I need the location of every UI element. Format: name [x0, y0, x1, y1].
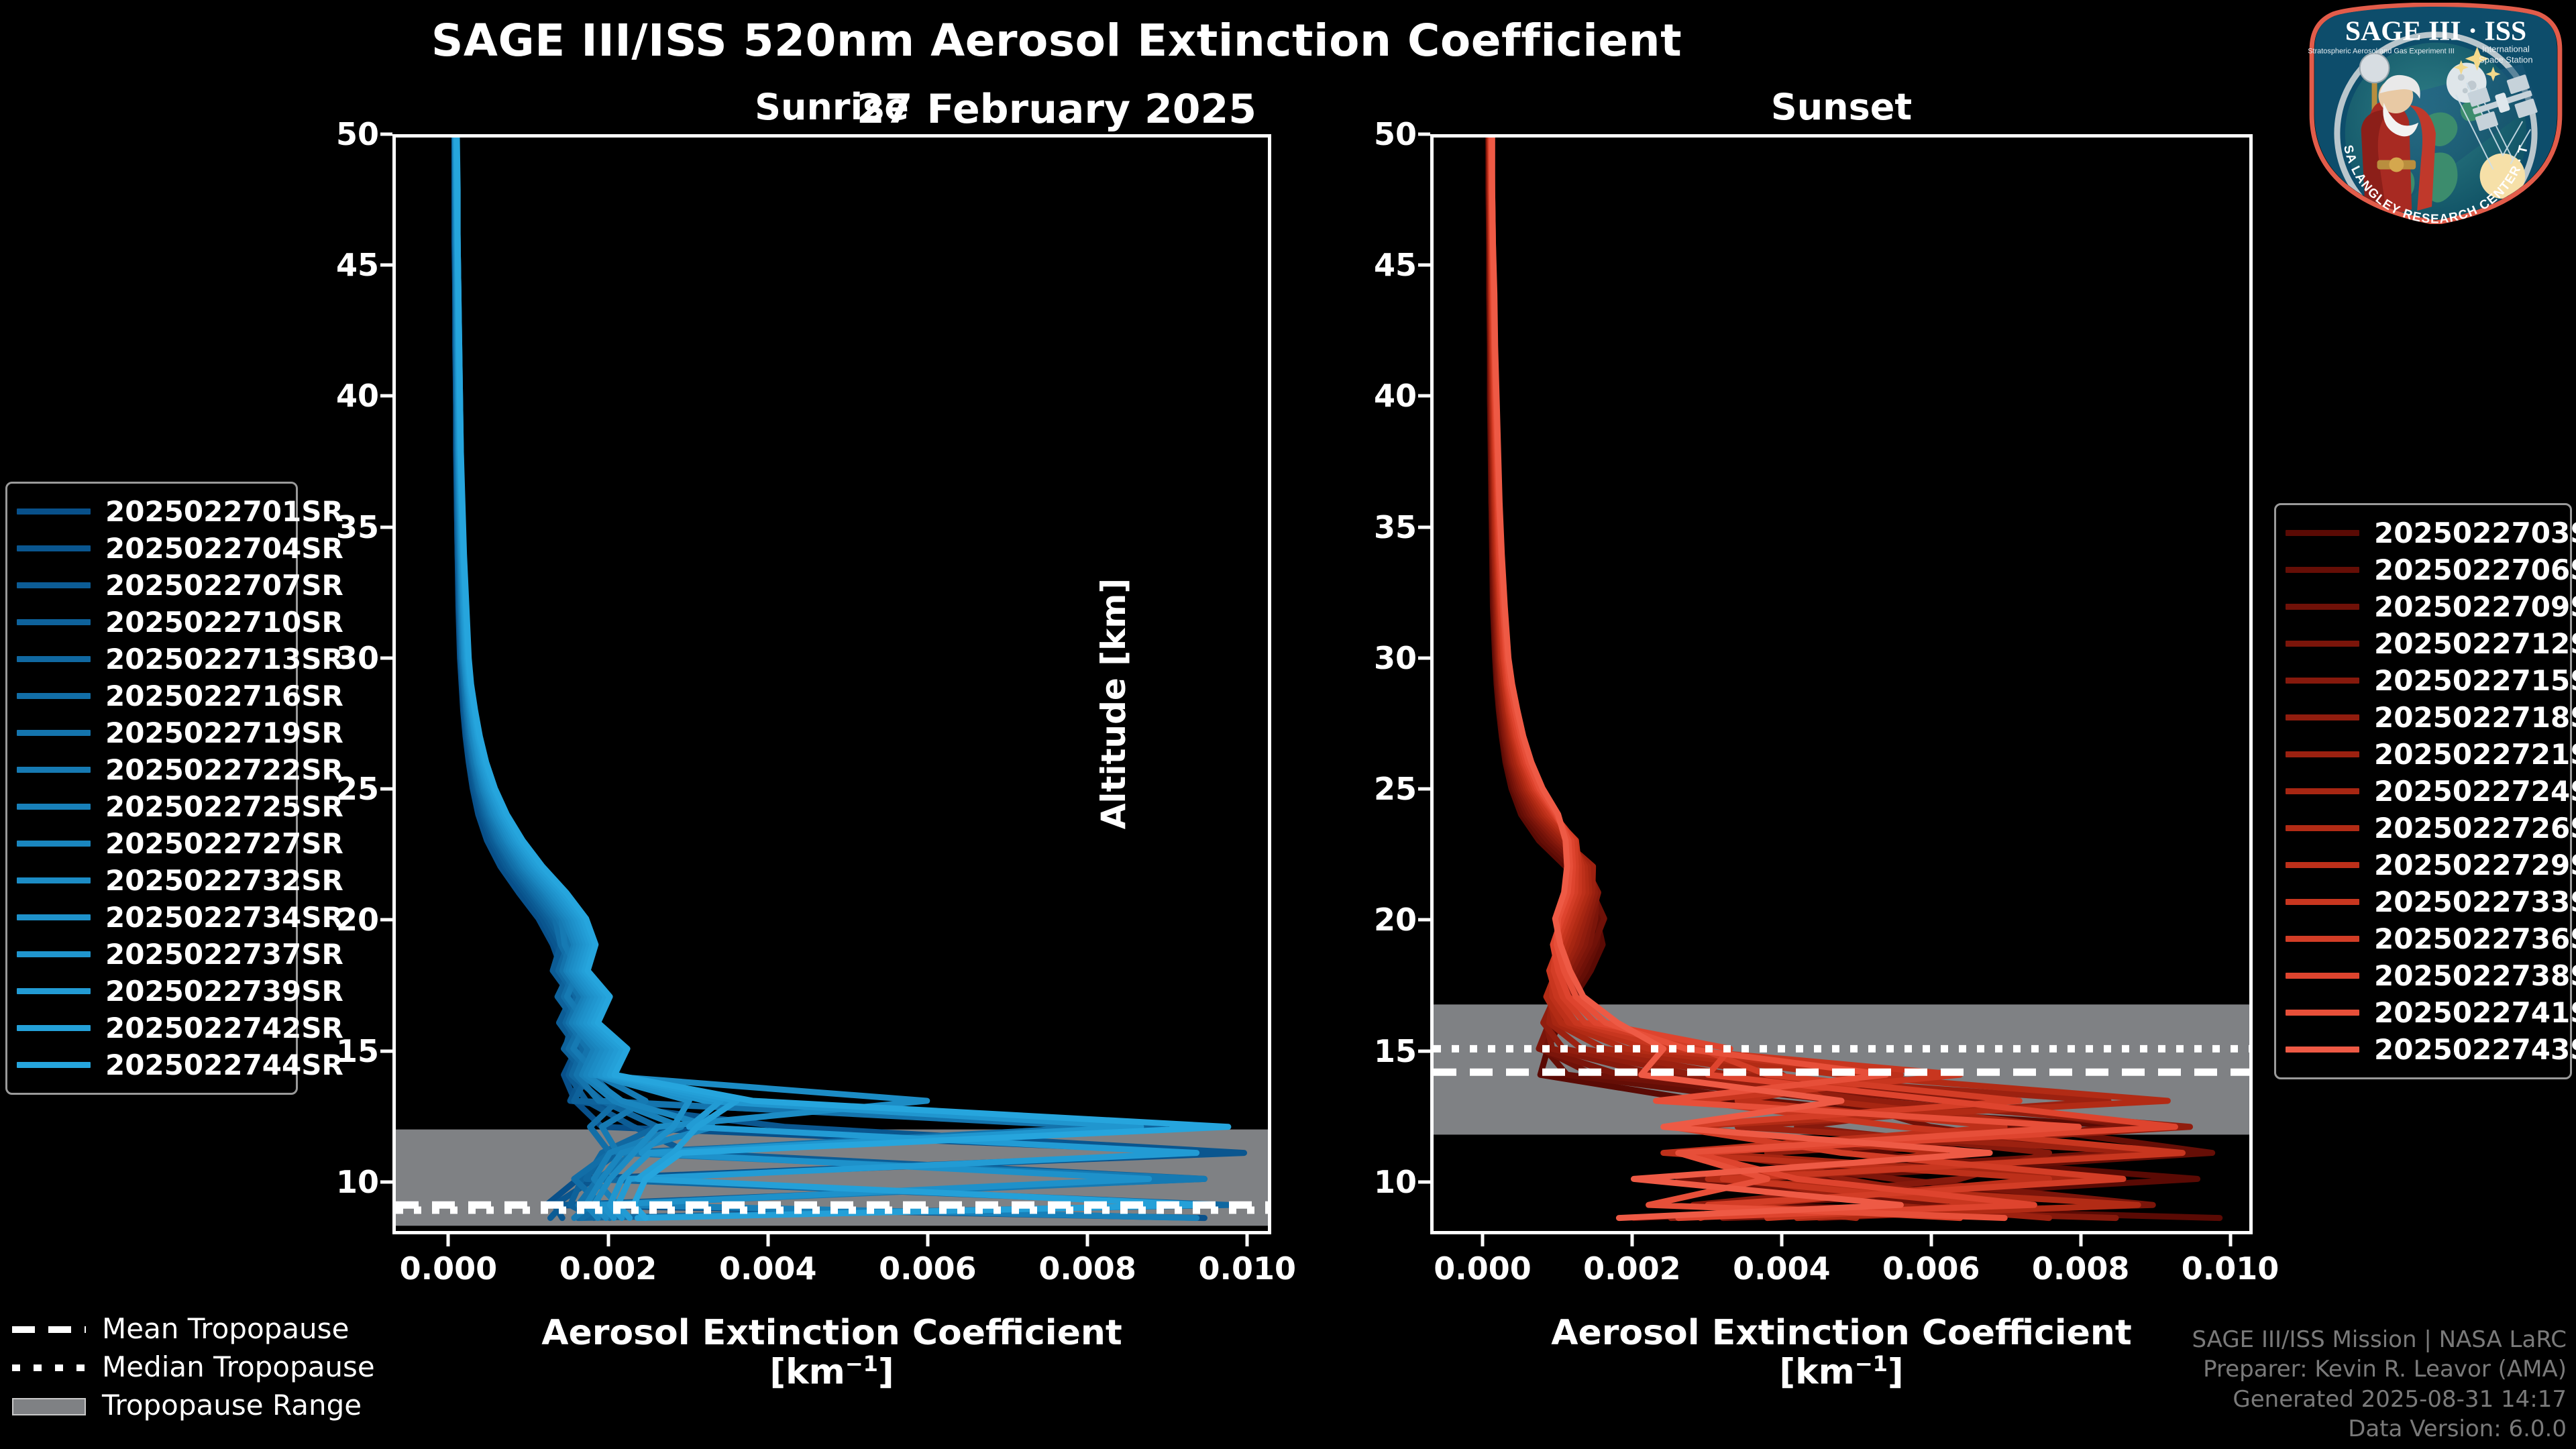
y-tick-mark: [380, 1049, 392, 1053]
legend-item-label: 2025022706SS: [2374, 553, 2576, 586]
y-tick-label: 40: [299, 378, 379, 414]
legend-item[interactable]: 2025022718SS: [2286, 699, 2558, 736]
credit-version: Data Version: 6.0.0: [2192, 1414, 2567, 1444]
x-tick-label: 0.010: [2182, 1250, 2279, 1287]
sage-iii-iss-mission-patch-logo: SAGE III · ISS Stratospheric Aerosol and…: [2302, 3, 2569, 224]
legend-color-swatch: [17, 804, 91, 810]
y-tick-label: 10: [299, 1164, 379, 1200]
legend-item[interactable]: 2025022743SS: [2286, 1031, 2558, 1068]
legend-color-swatch: [2286, 899, 2359, 905]
y-tick-mark: [380, 394, 392, 398]
x-tick-mark: [2229, 1234, 2232, 1246]
y-tick-mark: [380, 525, 392, 529]
y-tick-mark: [1418, 918, 1430, 922]
legend-item-label: 2025022712SS: [2374, 627, 2576, 660]
x-tick-mark: [606, 1234, 610, 1246]
legend-item-label: 2025022726SS: [2374, 812, 2576, 845]
x-tick-mark: [1086, 1234, 1089, 1246]
x-tick-mark: [1481, 1234, 1485, 1246]
legend-item-label: 2025022737SR: [105, 938, 343, 971]
legend-item[interactable]: 2025022707SR: [17, 567, 284, 604]
legend-item[interactable]: 2025022742SR: [17, 1010, 284, 1046]
legend-item-label: 2025022738SS: [2374, 959, 2576, 992]
sunset-plot-panel: [1430, 134, 2253, 1234]
legend-item-label: 2025022722SR: [105, 753, 343, 786]
legend-color-swatch: [2286, 751, 2359, 757]
legend-label-mean-tropopause: Mean Tropopause: [102, 1312, 349, 1345]
legend-item[interactable]: 2025022721SS: [2286, 736, 2558, 773]
legend-item[interactable]: 2025022738SS: [2286, 957, 2558, 994]
logo-subtitle-right-1: International: [2482, 44, 2530, 54]
y-tick-label: 50: [1336, 116, 1417, 152]
legend-item[interactable]: 2025022734SR: [17, 899, 284, 936]
x-tick-label: 0.006: [879, 1250, 977, 1287]
legend-item[interactable]: 2025022704SR: [17, 530, 284, 567]
credit-mission: SAGE III/ISS Mission | NASA LaRC: [2192, 1325, 2567, 1354]
dotted-line-icon: [12, 1358, 86, 1376]
x-tick-mark: [926, 1234, 929, 1246]
legend-item-mean-tropopause: Mean Tropopause: [12, 1309, 375, 1348]
legend-item-label: 2025022734SR: [105, 901, 343, 934]
legend-item-label: 2025022701SR: [105, 495, 343, 528]
legend-item[interactable]: 2025022724SS: [2286, 773, 2558, 810]
legend-color-swatch: [2286, 567, 2359, 573]
y-axis-label-right: Altitude [km]: [1094, 549, 1133, 858]
legend-item-label: 2025022744SR: [105, 1049, 343, 1081]
sunrise-plot-panel: [392, 134, 1271, 1234]
legend-item-label: 2025022709SS: [2374, 590, 2576, 623]
legend-item[interactable]: 2025022709SS: [2286, 588, 2558, 625]
legend-item-label: 2025022713SR: [105, 643, 343, 676]
profile-line: [456, 138, 1141, 1218]
legend-item-label: 2025022729SS: [2374, 849, 2576, 881]
legend-color-swatch: [17, 1025, 91, 1031]
tropopause-legend: Mean Tropopause Median Tropopause Tropop…: [12, 1309, 375, 1424]
profile-line: [456, 138, 1149, 1218]
legend-item[interactable]: 2025022733SS: [2286, 883, 2558, 920]
legend-item[interactable]: 2025022732SR: [17, 862, 284, 899]
legend-item-label: 2025022715SS: [2374, 664, 2576, 697]
legend-item[interactable]: 2025022712SS: [2286, 625, 2558, 662]
credits-block: SAGE III/ISS Mission | NASA LaRC Prepare…: [2192, 1325, 2567, 1444]
legend-item-label: 2025022741SS: [2374, 996, 2576, 1029]
y-tick-mark: [1418, 1180, 1430, 1183]
y-tick-mark: [380, 918, 392, 922]
legend-item[interactable]: 2025022722SR: [17, 751, 284, 788]
sunset-profile-curves: [1434, 138, 2249, 1231]
x-tick-label: 0.004: [719, 1250, 817, 1287]
y-tick-mark: [1418, 788, 1430, 791]
legend-item-label: 2025022719SR: [105, 716, 343, 749]
panel-title-sunset: Sunset: [1430, 86, 2253, 128]
credit-preparer: Preparer: Kevin R. Leavor (AMA): [2192, 1354, 2567, 1384]
x-tick-mark: [766, 1234, 769, 1246]
legend-item-label: 2025022724SS: [2374, 775, 2576, 808]
legend-color-swatch: [2286, 678, 2359, 684]
y-tick-label: 25: [1336, 771, 1417, 807]
legend-item-label: 2025022703SS: [2374, 517, 2576, 549]
legend-item-label: 2025022725SR: [105, 790, 343, 823]
x-tick-label: 0.008: [1038, 1250, 1136, 1287]
legend-item-label: 2025022736SS: [2374, 922, 2576, 955]
legend-item[interactable]: 2025022703SS: [2286, 515, 2558, 551]
x-tick-mark: [1780, 1234, 1783, 1246]
legend-color-swatch: [17, 693, 91, 699]
y-tick-label: 10: [1336, 1164, 1417, 1200]
legend-color-swatch: [17, 767, 91, 773]
legend-color-swatch: [17, 619, 91, 625]
legend-color-swatch: [2286, 641, 2359, 647]
legend-color-swatch: [17, 582, 91, 588]
panel-title-sunrise: Sunrise: [392, 86, 1271, 128]
y-tick-label: 45: [299, 247, 379, 283]
x-tick-label: 0.008: [2032, 1250, 2130, 1287]
legend-color-swatch: [2286, 788, 2359, 794]
legend-item-label: 2025022732SR: [105, 864, 343, 897]
logo-subtitle-left: Stratospheric Aerosol and Gas Experiment…: [2308, 48, 2455, 56]
legend-color-swatch: [17, 877, 91, 883]
legend-color-swatch: [2286, 604, 2359, 610]
profile-line: [456, 138, 927, 1218]
legend-item[interactable]: 2025022719SR: [17, 714, 284, 751]
x-tick-label: 0.000: [1434, 1250, 1532, 1287]
credit-generated: Generated 2025-08-31 14:17: [2192, 1385, 2567, 1414]
legend-color-swatch: [2286, 862, 2359, 868]
logo-subtitle-right-2: Space Station: [2479, 54, 2532, 64]
legend-item[interactable]: 2025022727SR: [17, 825, 284, 862]
y-tick-label: 40: [1336, 378, 1417, 414]
legend-color-swatch: [17, 1062, 91, 1068]
y-tick-mark: [380, 788, 392, 791]
x-axis-label-right: Aerosol Extinction Coefficient [km−1]: [1430, 1313, 2253, 1392]
x-tick-mark: [1246, 1234, 1249, 1246]
legend-item[interactable]: 2025022713SR: [17, 641, 284, 678]
y-tick-mark: [1418, 264, 1430, 267]
x-tick-mark: [447, 1234, 450, 1246]
legend-color-swatch: [2286, 936, 2359, 942]
y-tick-mark: [1418, 656, 1430, 659]
legend-item[interactable]: 2025022744SR: [17, 1046, 284, 1083]
legend-item-label: 2025022707SR: [105, 569, 343, 602]
legend-item-label: 2025022718SS: [2374, 701, 2576, 734]
legend-item[interactable]: 2025022729SS: [2286, 847, 2558, 883]
y-tick-label: 45: [1336, 247, 1417, 283]
x-axis-unit-left: [km−1]: [392, 1352, 1271, 1392]
x-tick-label: 0.004: [1733, 1250, 1831, 1287]
x-tick-label: 0.002: [559, 1250, 657, 1287]
x-tick-mark: [1630, 1234, 1633, 1246]
y-tick-mark: [1418, 133, 1430, 136]
y-tick-mark: [380, 656, 392, 659]
legend-item-label: 2025022742SR: [105, 1012, 343, 1044]
x-axis-label-left: Aerosol Extinction Coefficient [km−1]: [392, 1313, 1271, 1392]
legend-color-swatch: [17, 508, 91, 515]
legend-item-label: 2025022716SR: [105, 680, 343, 712]
x-tick-label: 0.006: [1882, 1250, 1980, 1287]
legend-color-swatch: [17, 951, 91, 957]
legend-color-swatch: [2286, 973, 2359, 979]
legend-label-median-tropopause: Median Tropopause: [102, 1350, 375, 1383]
sunset-legend[interactable]: 2025022703SS2025022706SS2025022709SS2025…: [2274, 503, 2572, 1079]
y-tick-label: 20: [1336, 902, 1417, 938]
legend-color-swatch: [2286, 714, 2359, 720]
legend-item[interactable]: 2025022710SR: [17, 604, 284, 641]
legend-color-swatch: [2286, 1046, 2359, 1053]
filled-box-icon: [12, 1397, 86, 1414]
legend-item[interactable]: 2025022715SS: [2286, 662, 2558, 699]
legend-item-label: 2025022743SS: [2374, 1033, 2576, 1066]
legend-item-label: 2025022733SS: [2374, 885, 2576, 918]
legend-item[interactable]: 2025022725SR: [17, 788, 284, 825]
profile-line: [454, 138, 1165, 1218]
x-axis-unit-right: [km−1]: [1430, 1352, 2253, 1392]
legend-color-swatch: [17, 730, 91, 736]
y-tick-mark: [1418, 525, 1430, 529]
y-tick-mark: [1418, 1049, 1430, 1053]
x-axis-label-right-text: Aerosol Extinction Coefficient: [1430, 1313, 2253, 1352]
legend-item-median-tropopause: Median Tropopause: [12, 1348, 375, 1386]
y-tick-label: 15: [1336, 1033, 1417, 1069]
legend-item-label: 2025022721SS: [2374, 738, 2576, 771]
y-tick-label: 30: [1336, 640, 1417, 676]
profile-line: [455, 138, 1102, 1218]
x-tick-label: 0.010: [1199, 1250, 1297, 1287]
page-title: SAGE III/ISS 520nm Aerosol Extinction Co…: [0, 15, 2113, 66]
y-tick-label: 50: [299, 116, 379, 152]
legend-color-swatch: [17, 988, 91, 994]
legend-item[interactable]: 2025022701SR: [17, 493, 284, 530]
legend-item[interactable]: 2025022739SR: [17, 973, 284, 1010]
x-tick-mark: [1929, 1234, 1933, 1246]
sunrise-legend[interactable]: 2025022701SR2025022704SR2025022707SR2025…: [5, 482, 298, 1095]
dashed-line-icon: [12, 1320, 86, 1338]
y-tick-mark: [380, 1180, 392, 1183]
legend-item-label: 2025022739SR: [105, 975, 343, 1008]
legend-item-tropopause-range: Tropopause Range: [12, 1386, 375, 1424]
legend-color-swatch: [17, 914, 91, 920]
legend-item-label: 2025022710SR: [105, 606, 343, 639]
legend-color-swatch: [2286, 1010, 2359, 1016]
legend-item[interactable]: 2025022716SR: [17, 678, 284, 714]
legend-color-swatch: [2286, 825, 2359, 831]
legend-label-tropopause-range: Tropopause Range: [102, 1389, 362, 1421]
y-tick-mark: [380, 133, 392, 136]
logo-title: SAGE III · ISS: [2345, 16, 2526, 47]
legend-color-swatch: [17, 545, 91, 551]
legend-item[interactable]: 2025022736SS: [2286, 920, 2558, 957]
legend-item[interactable]: 2025022706SS: [2286, 551, 2558, 588]
legend-item[interactable]: 2025022741SS: [2286, 994, 2558, 1031]
y-tick-mark: [380, 264, 392, 267]
legend-color-swatch: [2286, 530, 2359, 536]
legend-item[interactable]: 2025022726SS: [2286, 810, 2558, 847]
y-tick-mark: [1418, 394, 1430, 398]
y-tick-label: 35: [1336, 509, 1417, 545]
legend-color-swatch: [17, 656, 91, 662]
x-axis-label-left-text: Aerosol Extinction Coefficient: [392, 1313, 1271, 1352]
legend-color-swatch: [17, 841, 91, 847]
legend-item[interactable]: 2025022737SR: [17, 936, 284, 973]
legend-item-label: 2025022727SR: [105, 827, 343, 860]
legend-item-label: 2025022704SR: [105, 532, 343, 565]
x-tick-mark: [2079, 1234, 2082, 1246]
x-tick-label: 0.002: [1583, 1250, 1681, 1287]
x-tick-label: 0.000: [400, 1250, 498, 1287]
sunrise-profile-curves: [396, 138, 1268, 1231]
